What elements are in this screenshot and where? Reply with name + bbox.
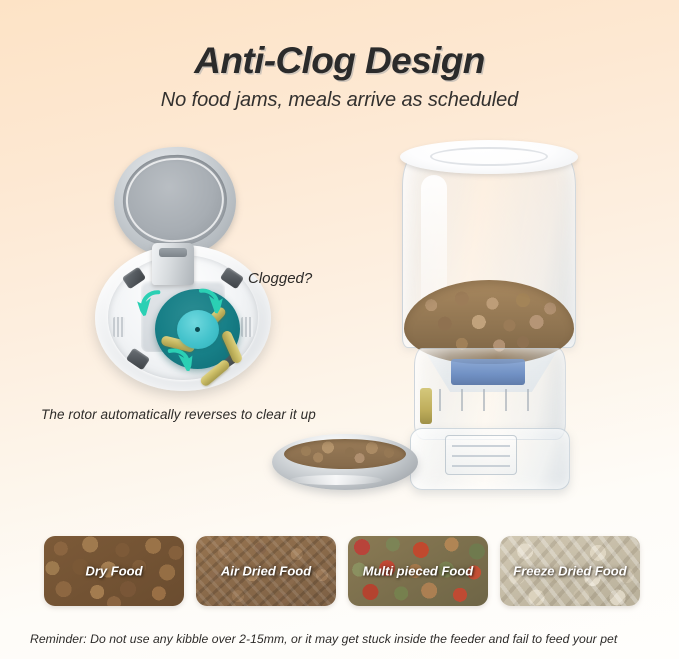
- feeder-mid-body: [414, 348, 566, 440]
- page-title: Anti-Clog Design: [0, 40, 679, 82]
- khaki-paddle-part: [420, 388, 432, 424]
- feeder-base: [410, 428, 570, 490]
- food-type-card-freeze-dried: Freeze Dried Food: [500, 536, 640, 606]
- rotor-hub: [177, 310, 219, 349]
- food-type-card-list: Dry Food Air Dried Food Multi pieced Foo…: [44, 536, 640, 606]
- feeder-lid: [400, 140, 578, 174]
- vent-slots: [241, 317, 253, 337]
- food-type-card-multi-pieced: Multi pieced Food: [348, 536, 488, 606]
- blue-module: [451, 359, 525, 385]
- feeder-product-image: [272, 140, 592, 500]
- page-subtitle: No food jams, meals arrive as scheduled: [0, 89, 679, 112]
- food-type-label: Dry Food: [44, 564, 184, 579]
- reminder-note: Reminder: Do not use any kibble over 2-1…: [30, 632, 660, 646]
- lid-inner-disc: [121, 152, 230, 248]
- bowl-kibble: [284, 439, 406, 469]
- bowl-highlight: [290, 475, 382, 485]
- reverse-arrow-icon: [165, 347, 193, 372]
- base-window: [445, 435, 517, 475]
- stainless-steel-bowl: [272, 434, 418, 490]
- lid-hinge: [152, 243, 194, 285]
- product-feature-slide: Anti-Clog Design No food jams, meals arr…: [0, 0, 679, 659]
- food-type-label: Air Dried Food: [196, 564, 336, 579]
- rotor-paddle: [199, 358, 231, 388]
- vent-slots: [113, 317, 125, 337]
- food-type-label: Freeze Dried Food: [500, 564, 640, 579]
- lid-rim: [124, 155, 226, 244]
- chute-bars: [439, 389, 543, 411]
- food-type-card-air-dried: Air Dried Food: [196, 536, 336, 606]
- food-type-card-dry: Dry Food: [44, 536, 184, 606]
- food-type-label: Multi pieced Food: [348, 564, 488, 579]
